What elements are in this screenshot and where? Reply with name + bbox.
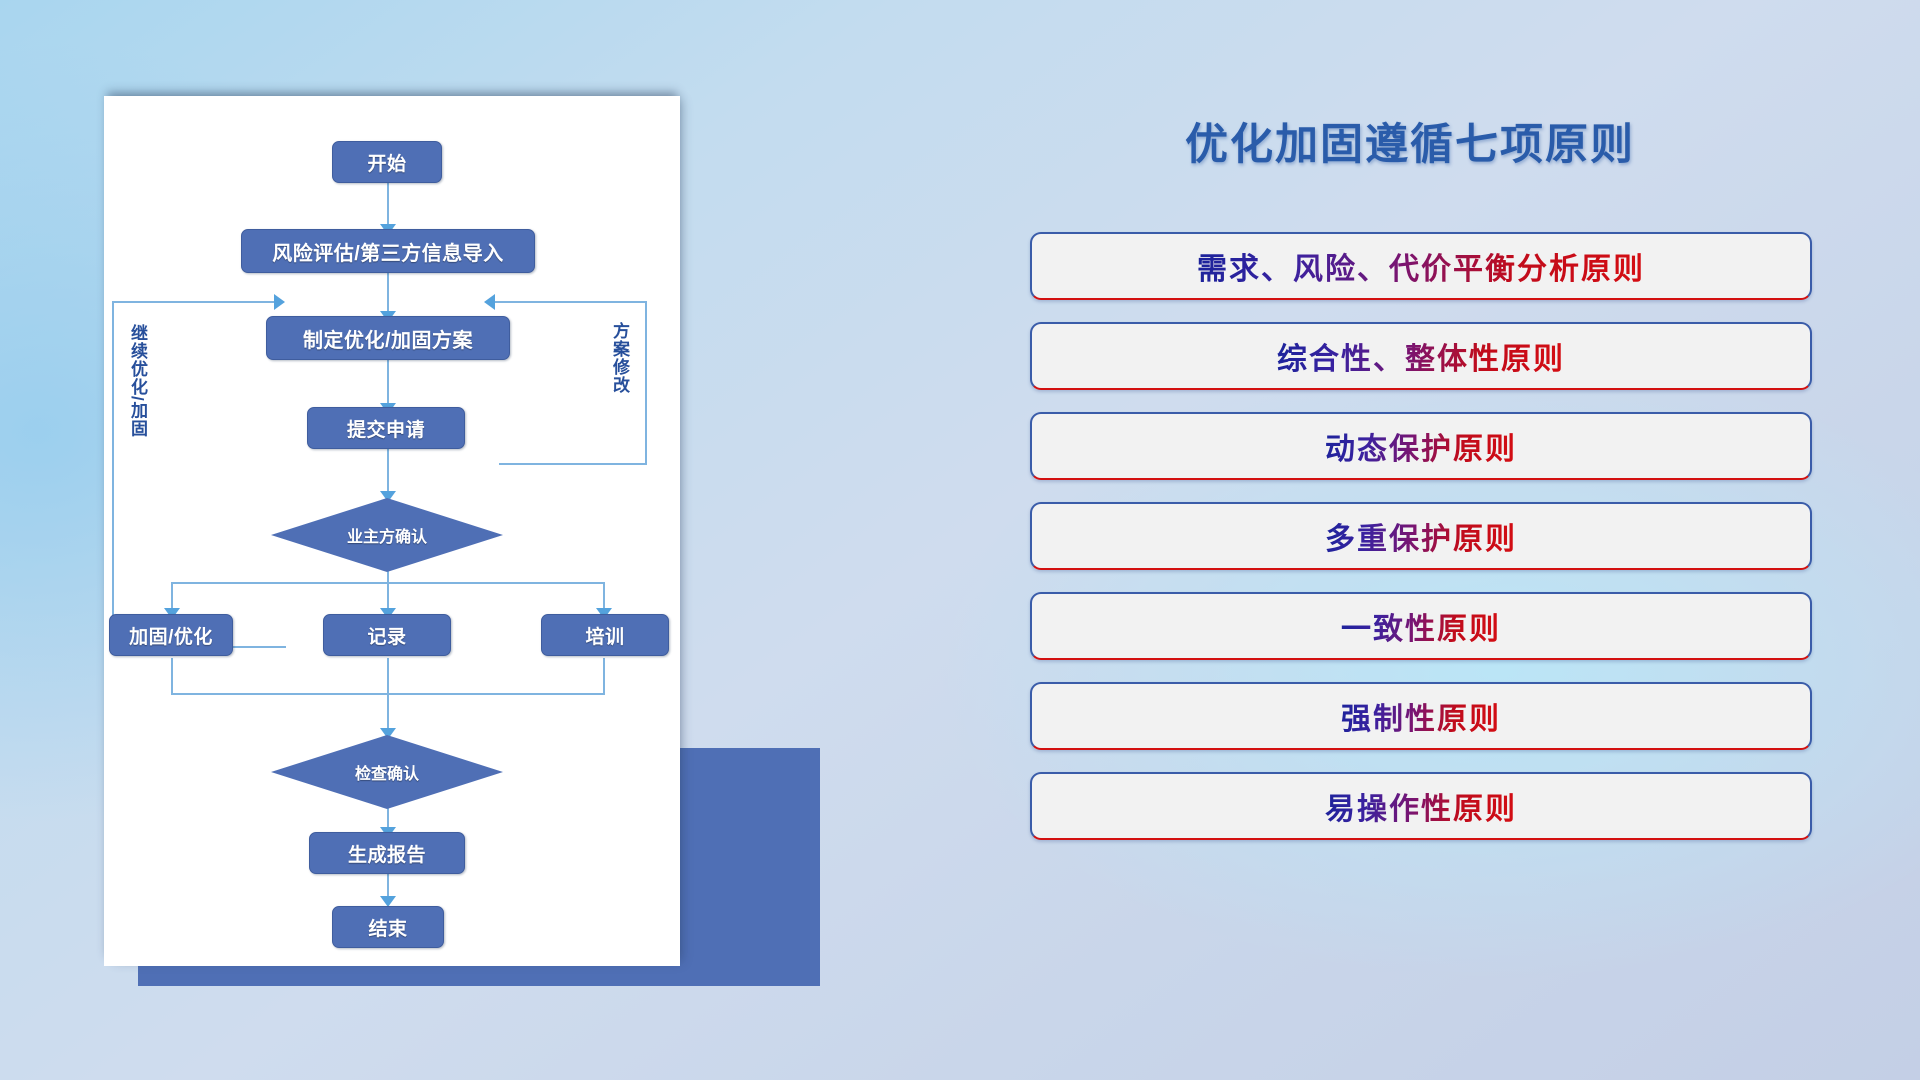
flow-node-record[interactable]: 记录 (323, 614, 451, 656)
principle-item-5[interactable]: 一致性原则 (1030, 592, 1812, 660)
connector-start-risk (387, 181, 389, 229)
flow-decision-check-confirm[interactable]: 检查确认 (271, 735, 503, 809)
principle-item-3-label: 动态保护原则 (1325, 424, 1517, 468)
flow-node-start[interactable]: 开始 (332, 141, 442, 183)
principle-item-1-label: 需求、风险、代价平衡分析原则 (1197, 244, 1645, 288)
flowchart-card: 方案修改 继续优化/加固 开始 风险评估/第三方信息导入 (104, 96, 680, 966)
principle-item-1[interactable]: 需求、风险、代价平衡分析原则 (1030, 232, 1812, 300)
flow-node-end-label: 结束 (368, 914, 407, 941)
connector-reinforce-down (171, 658, 173, 695)
flow-node-training[interactable]: 培训 (541, 614, 669, 656)
flow-node-submit[interactable]: 提交申请 (307, 407, 465, 449)
principle-item-7[interactable]: 易操作性原则 (1030, 772, 1812, 840)
principle-item-5-label: 一致性原则 (1341, 604, 1501, 648)
principle-item-4[interactable]: 多重保护原则 (1030, 502, 1812, 570)
flow-node-risk-assessment[interactable]: 风险评估/第三方信息导入 (241, 229, 535, 273)
flow-node-reinforce-label: 加固/优化 (129, 622, 213, 649)
flowchart-panel: 方案修改 继续优化/加固 开始 风险评估/第三方信息导入 (0, 0, 860, 1080)
flow-node-plan-label: 制定优化/加固方案 (303, 324, 473, 353)
connector-plan-submit (387, 358, 389, 408)
page-title: 优化加固遵循七项原则 (1010, 110, 1810, 172)
flow-node-plan[interactable]: 制定优化/加固方案 (266, 316, 510, 360)
flow-node-report-label: 生成报告 (348, 840, 426, 867)
principle-item-3[interactable]: 动态保护原则 (1030, 412, 1812, 480)
flow-node-submit-label: 提交申请 (347, 415, 425, 442)
connector-record-to-check (387, 658, 389, 734)
principles-panel: 优化加固遵循七项原则 需求、风险、代价平衡分析原则 综合性、整体性原则 动态保护… (1010, 0, 1920, 1080)
principle-item-2-label: 综合性、整体性原则 (1277, 334, 1565, 378)
principle-item-2[interactable]: 综合性、整体性原则 (1030, 322, 1812, 390)
connector-left-to-plan (112, 301, 280, 303)
connector-submit-owner (387, 448, 389, 496)
principle-item-4-label: 多重保护原则 (1325, 514, 1517, 558)
flow-node-record-label: 记录 (367, 622, 406, 649)
edge-label-continue-optimize: 继续优化/加固 (128, 324, 146, 438)
connector-train-down (603, 658, 605, 695)
flow-node-report[interactable]: 生成报告 (309, 832, 465, 874)
flow-decision-owner-confirm-label: 业主方确认 (347, 523, 427, 547)
flow-node-end[interactable]: 结束 (332, 906, 444, 948)
principle-item-7-label: 易操作性原则 (1325, 784, 1517, 828)
principle-item-6-label: 强制性原则 (1341, 694, 1501, 738)
connector-left-up (112, 301, 114, 648)
flow-node-risk-assessment-label: 风险评估/第三方信息导入 (272, 237, 504, 266)
principle-item-6[interactable]: 强制性原则 (1030, 682, 1812, 750)
connector-owner-right (499, 463, 647, 465)
flow-node-training-label: 培训 (585, 622, 624, 649)
flow-node-start-label: 开始 (367, 149, 406, 176)
edge-label-plan-revision: 方案修改 (610, 322, 628, 394)
connector-right-up (645, 301, 647, 465)
flow-node-reinforce[interactable]: 加固/优化 (109, 614, 233, 656)
arrowhead-left-loop (274, 294, 285, 310)
connector-risk-plan (387, 271, 389, 316)
flow-decision-check-confirm-label: 检查确认 (355, 760, 419, 784)
flow-decision-owner-confirm[interactable]: 业主方确认 (271, 498, 503, 572)
connector-right-to-plan (494, 301, 646, 303)
arrowhead-right-loop (484, 294, 495, 310)
